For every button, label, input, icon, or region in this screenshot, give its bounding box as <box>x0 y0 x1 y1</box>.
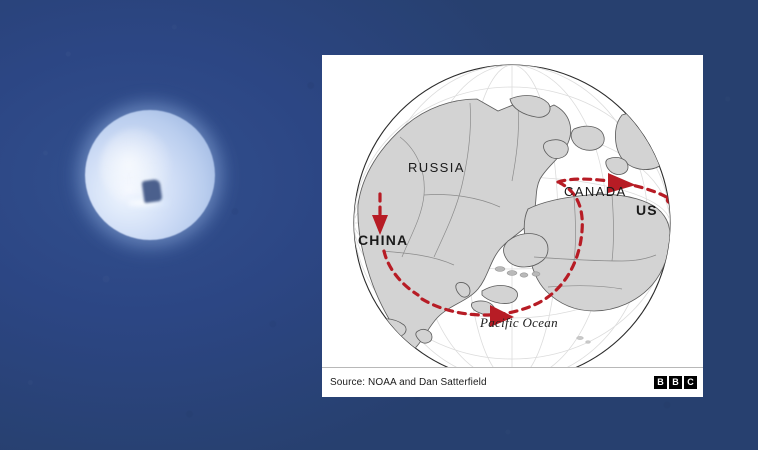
bbc-logo: B B C <box>654 376 697 389</box>
label-china: CHINA <box>358 232 408 248</box>
screenshot-root: RUSSIA CHINA CANADA US Pacific Ocean Sou… <box>0 0 758 450</box>
label-canada: CANADA <box>564 184 627 199</box>
map-footer: Source: NOAA and Dan Satterfield B B C <box>322 367 703 397</box>
bbc-logo-letter-2: B <box>669 376 682 389</box>
bbc-logo-letter-3: C <box>684 376 697 389</box>
source-attribution: Source: NOAA and Dan Satterfield <box>330 377 487 388</box>
label-russia: RUSSIA <box>408 160 465 175</box>
globe-map: RUSSIA CHINA CANADA US Pacific Ocean <box>322 55 703 367</box>
label-us: US <box>636 202 658 218</box>
label-pacific-ocean: Pacific Ocean <box>479 315 558 330</box>
route-endpoint-dot <box>666 196 674 204</box>
bbc-logo-letter-1: B <box>654 376 667 389</box>
bbc-map-card: RUSSIA CHINA CANADA US Pacific Ocean Sou… <box>322 55 703 397</box>
balloon-payload-icon <box>142 179 163 203</box>
